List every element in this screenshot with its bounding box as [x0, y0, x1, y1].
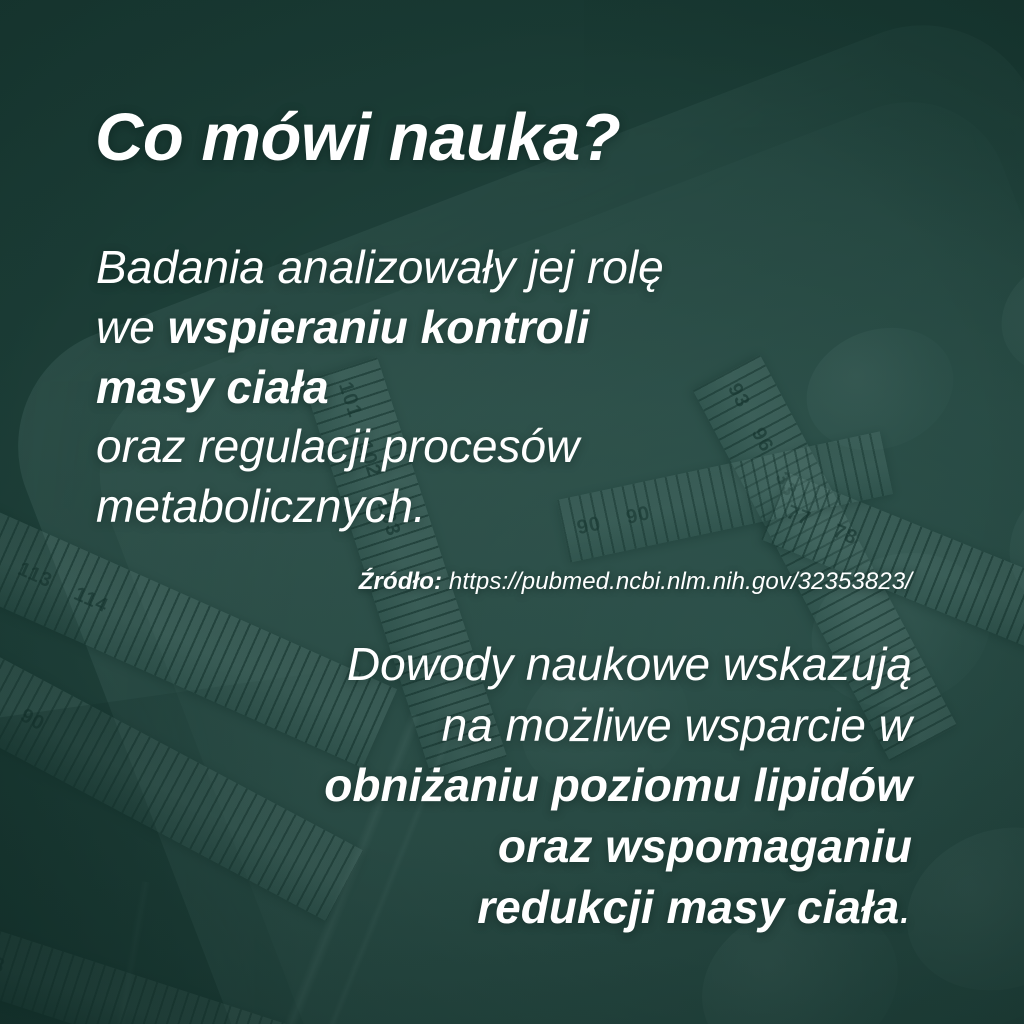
paragraph-top-line-2-bold: wspieraniu kontroli — [168, 301, 590, 353]
paragraph-top: Badania analizowały jej rolę we wspieran… — [96, 238, 956, 537]
paragraph-bottom-line-2: na możliwe wsparcie w — [96, 695, 912, 756]
paragraph-top-line-2: we wspieraniu kontroli — [96, 298, 956, 358]
page-title: Co mówi nauka? — [95, 104, 935, 171]
paragraph-top-line-4: oraz regulacji procesów — [96, 417, 956, 477]
paragraph-bottom-line-3-bold: obniżaniu poziomu lipidów — [324, 759, 912, 811]
paragraph-bottom-line-5-tail: . — [899, 881, 912, 933]
paragraph-bottom-line-4-bold: oraz wspomaganiu — [498, 820, 912, 872]
paragraph-top-line-1: Badania analizowały jej rolę — [96, 238, 956, 298]
paragraph-bottom-line-4: oraz wspomaganiu — [96, 816, 912, 877]
paragraph-bottom-line-5: redukcji masy ciała. — [96, 877, 912, 938]
social-post-canvas: 112113114 4290 101102103 939633 7778 909… — [0, 0, 1024, 1024]
source-label: Źródło: — [359, 568, 442, 595]
paragraph-top-line-5: metabolicznych. — [96, 477, 956, 537]
paragraph-bottom-line-5-bold: redukcji masy ciała — [477, 881, 899, 933]
paragraph-bottom-line-1: Dowody naukowe wskazują — [96, 634, 912, 695]
paragraph-bottom-line-3: obniżaniu poziomu lipidów — [96, 755, 912, 816]
paragraph-top-line-2-plain: we — [96, 301, 168, 353]
source-citation: Źródło: https://pubmed.ncbi.nlm.nih.gov/… — [96, 568, 912, 596]
paragraph-top-line-3: masy ciała — [96, 358, 956, 418]
post-content: Co mówi nauka? Badania analizowały jej r… — [0, 0, 1024, 1024]
source-url[interactable]: https://pubmed.ncbi.nlm.nih.gov/32353823… — [449, 568, 912, 595]
paragraph-top-line-3-bold: masy ciała — [96, 361, 329, 413]
paragraph-bottom: Dowody naukowe wskazują na możliwe wspar… — [96, 634, 912, 938]
